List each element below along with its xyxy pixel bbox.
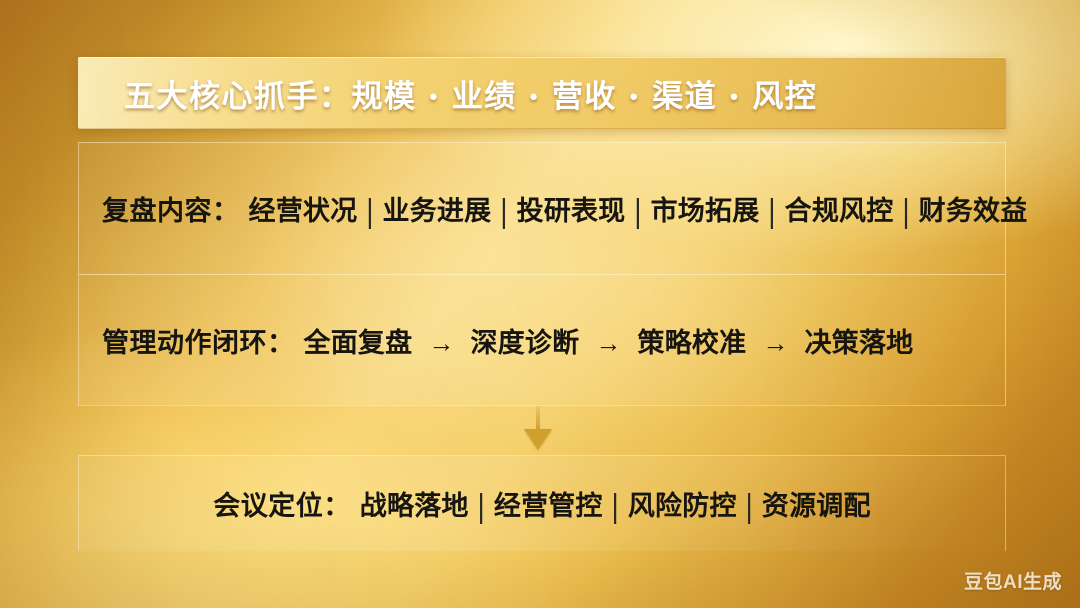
review-content-item-2: 投研表现	[517, 196, 626, 226]
arrow-down-icon	[524, 406, 552, 450]
header-bar: 五大核心抓手：规模•业绩•营收•渠道•风控	[78, 57, 1006, 129]
review-content-label: 复盘内容：	[102, 196, 240, 226]
review-content-item-1: 业务进展	[383, 196, 492, 226]
bullet-separator-icon: •	[717, 84, 752, 109]
header-item-4: 风控	[752, 79, 817, 114]
meeting-positioning-text: 会议定位：战略落地|经营管控|风险防控|资源调配	[213, 484, 870, 523]
pipe-separator-icon: |	[603, 487, 628, 526]
meeting-positioning-item-3: 资源调配	[762, 491, 871, 521]
meeting-positioning-label: 会议定位：	[213, 491, 351, 521]
arrow-head	[524, 429, 552, 450]
review-content-item-4: 合规风控	[785, 196, 894, 226]
header-item-3: 渠道	[652, 79, 717, 114]
header-title: 五大核心抓手：规模•业绩•营收•渠道•风控	[124, 71, 817, 116]
management-loop-row: 管理动作闭环：全面复盘→深度诊断→策略校准→决策落地	[79, 274, 1005, 405]
header-item-0: 规模	[352, 79, 417, 114]
lower-panel: 会议定位：战略落地|经营管控|风险防控|资源调配	[78, 455, 1006, 551]
management-loop-text: 管理动作闭环：全面复盘→深度诊断→策略校准→决策落地	[102, 321, 913, 360]
management-loop-label: 管理动作闭环：	[102, 328, 295, 358]
pipe-separator-icon: |	[625, 192, 650, 231]
upper-panel: 复盘内容：经营状况|业务进展|投研表现|市场拓展|合规风控|财务效益 管理动作闭…	[78, 142, 1006, 406]
watermark: 豆包AI生成	[964, 567, 1062, 594]
bullet-separator-icon: •	[617, 84, 652, 109]
pipe-separator-icon: |	[737, 487, 762, 526]
pipe-separator-icon: |	[469, 487, 494, 526]
meeting-positioning-item-2: 风险防控	[628, 491, 737, 521]
bullet-separator-icon: •	[517, 84, 552, 109]
review-content-item-5: 财务效益	[919, 196, 1028, 226]
management-loop-item-2: 策略校准	[638, 328, 747, 358]
bullet-separator-icon: •	[417, 84, 452, 109]
pipe-separator-icon: |	[491, 192, 516, 231]
pipe-separator-icon: |	[357, 192, 382, 231]
review-content-item-0: 经营状况	[249, 196, 358, 226]
review-content-row: 复盘内容：经营状况|业务进展|投研表现|市场拓展|合规风控|财务效益	[79, 143, 1005, 274]
management-loop-item-0: 全面复盘	[304, 328, 413, 358]
meeting-positioning-item-0: 战略落地	[360, 491, 469, 521]
management-loop-item-1: 深度诊断	[471, 328, 580, 358]
header-item-1: 业绩	[452, 79, 517, 114]
meeting-positioning-item-1: 经营管控	[494, 491, 603, 521]
management-loop-item-3: 决策落地	[805, 328, 914, 358]
arrow-right-icon: →	[746, 328, 804, 359]
pipe-separator-icon: |	[893, 192, 918, 231]
arrow-right-icon: →	[579, 328, 637, 359]
header-item-2: 营收	[552, 79, 617, 114]
header-label: 五大核心抓手：	[124, 79, 352, 114]
review-content-item-3: 市场拓展	[651, 196, 760, 226]
slide-canvas: 五大核心抓手：规模•业绩•营收•渠道•风控 复盘内容：经营状况|业务进展|投研表…	[0, 0, 1080, 608]
pipe-separator-icon: |	[759, 192, 784, 231]
review-content-text: 复盘内容：经营状况|业务进展|投研表现|市场拓展|合规风控|财务效益	[102, 189, 1027, 228]
arrow-right-icon: →	[412, 328, 470, 359]
